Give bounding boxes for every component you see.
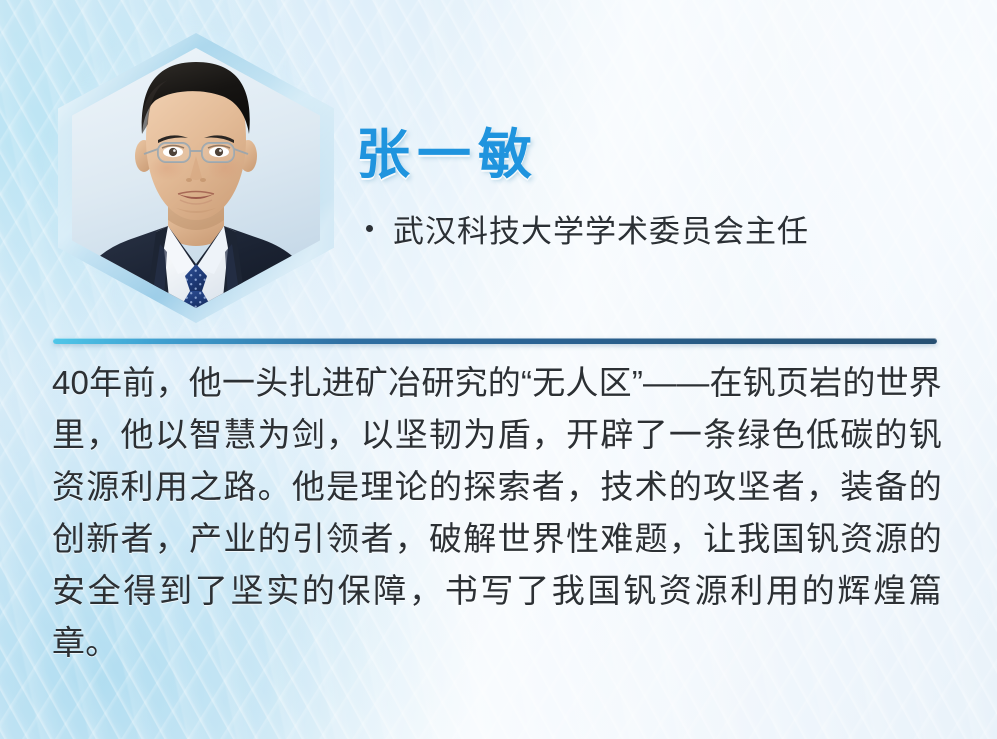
person-title: 武汉科技大学学术委员会主任: [393, 206, 809, 251]
subtitle-row: 武汉科技大学学术委员会主任: [366, 206, 809, 251]
bullet-dot-icon: [366, 225, 373, 232]
section-divider: [53, 338, 937, 344]
portrait-container: [58, 33, 334, 323]
profile-poster: 张一敏 武汉科技大学学术委员会主任 40年前，他一头扎进矿冶研究的“无人区”——…: [0, 0, 997, 739]
page-title: 张一敏: [356, 110, 539, 189]
biography-paragraph: 40年前，他一头扎进矿冶研究的“无人区”——在钒页岩的世界里，他以智慧为剑，以坚…: [52, 357, 942, 669]
